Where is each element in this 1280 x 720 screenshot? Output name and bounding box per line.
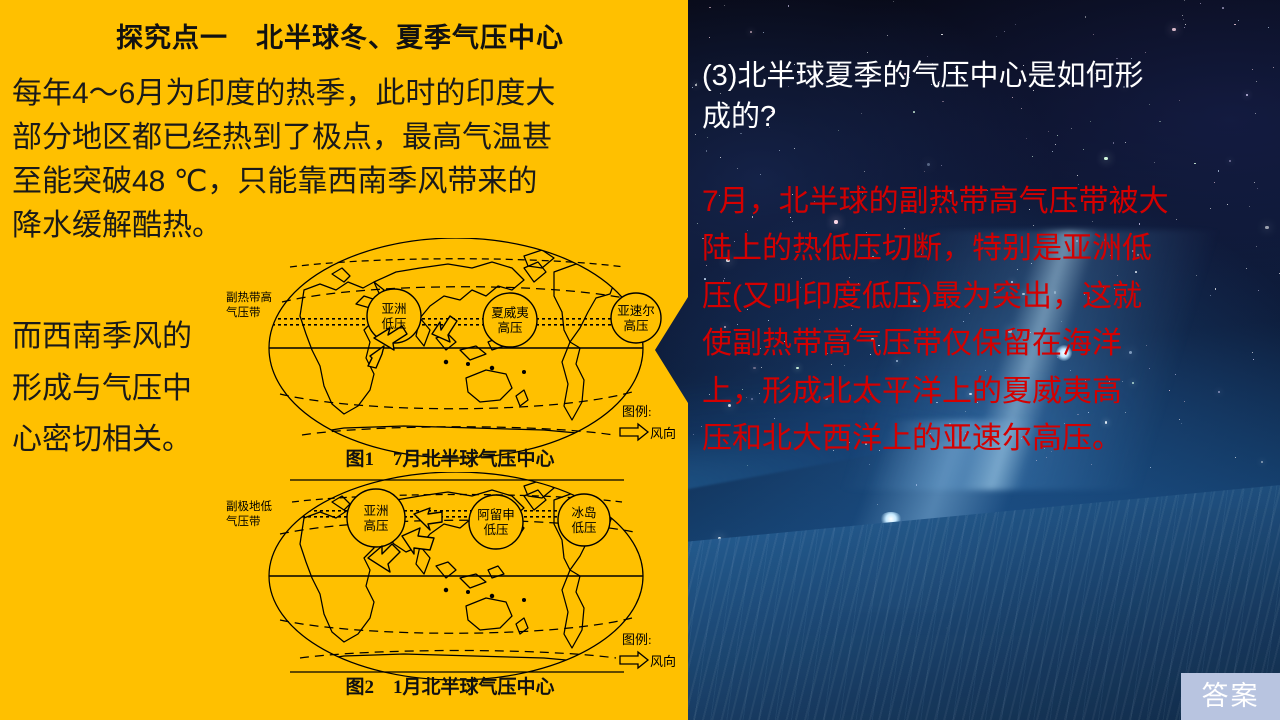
lead-paragraph-continued: 而西南季风的 形成与气压中 心密切相关。	[12, 311, 242, 466]
map-caption: 图1 7月北半球气压中心	[224, 444, 676, 471]
paragraph-line: 每年4～6月为印度的热季，此时的印度大	[12, 72, 672, 116]
answer-text: 7月，北半球的副热带高气压带被大 陆上的热低压切断，特别是亚洲低 压(又叫印度低…	[702, 178, 1268, 462]
paragraph-line: 心密切相关。	[12, 414, 242, 466]
pressure-center-label: 高压	[497, 320, 522, 335]
answer-line: 7月，北半球的副热带高气压带被大	[702, 178, 1268, 225]
wind-direction-arrow-icon	[620, 652, 648, 668]
pressure-center-label: 亚洲	[381, 302, 406, 316]
pressure-center-circle	[483, 293, 537, 347]
pressure-center-label: 夏威夷	[491, 305, 529, 320]
question-text: (3)北半球夏季的气压中心是如何形 成的?	[702, 56, 1268, 138]
answer-line: 压(又叫印度低压)最为突出，这就	[702, 273, 1268, 320]
band-label-line: 气压带	[226, 514, 261, 528]
pressure-center-circle	[611, 293, 661, 343]
map-july-svg: 亚洲 低压 夏威夷 高压 亚速尔 高压 副热带高 气压带 图例:	[224, 238, 676, 464]
pressure-center-label: 低压	[483, 523, 508, 537]
map-caption: 图2 1月北半球气压中心	[224, 672, 676, 699]
pressure-center-circle	[469, 495, 523, 549]
band-label-line: 气压带	[226, 305, 261, 319]
wind-direction-arrow-icon	[620, 424, 648, 440]
pressure-center-label: 亚速尔	[617, 303, 655, 318]
paragraph-line: 形成与气压中	[12, 363, 242, 415]
map-july-pressure-centers: 亚洲 低压 夏威夷 高压 亚速尔 高压 副热带高 气压带 图例:	[224, 238, 676, 464]
question-line: 成的?	[702, 97, 1268, 138]
pressure-center-label: 冰岛	[571, 505, 596, 520]
pressure-center-label: 亚洲	[363, 504, 388, 518]
legend-title: 图例:	[622, 632, 652, 647]
paragraph-line: 而西南季风的	[12, 311, 242, 363]
paragraph-line: 至能突破48 ℃，只能靠西南季风带来的	[12, 160, 672, 204]
answer-line: 上，形成北太平洋上的夏威夷高	[702, 368, 1268, 415]
map-january-pressure-centers: 亚洲 高压 阿留申 低压 冰岛 低压 副极地低 气压带 图例: 风向	[224, 472, 676, 698]
pressure-center-label: 高压	[363, 518, 388, 533]
pressure-center-label: 高压	[623, 318, 648, 333]
slide-root: (3)北半球夏季的气压中心是如何形 成的? 7月，北半球的副热带高气压带被大 陆…	[0, 0, 1280, 720]
pressure-center-label: 低压	[381, 317, 406, 331]
legend-item-label: 风向	[650, 654, 676, 669]
pressure-center-label: 阿留申	[477, 508, 515, 522]
pressure-center-label: 低压	[571, 521, 596, 535]
pressure-center-circle	[347, 489, 405, 547]
answer-button[interactable]: 答案	[1181, 673, 1280, 720]
pressure-center-circle	[558, 494, 610, 546]
lead-paragraph: 每年4～6月为印度的热季，此时的印度大 部分地区都已经热到了极点，最高气温甚 至…	[12, 72, 672, 248]
band-label-line: 副极地低	[226, 499, 272, 513]
answer-line: 使副热带高气压带仅保留在海洋	[702, 320, 1268, 367]
page-title: 探究点一 北半球冬、夏季气压中心	[0, 16, 680, 55]
band-label-line: 副热带高	[226, 290, 272, 304]
legend-title: 图例:	[622, 404, 652, 419]
paragraph-line: 部分地区都已经热到了极点，最高气温甚	[12, 116, 672, 160]
legend-item-label: 风向	[650, 426, 676, 441]
yellow-callout-panel: 探究点一 北半球冬、夏季气压中心 每年4～6月为印度的热季，此时的印度大 部分地…	[0, 0, 688, 720]
answer-line: 陆上的热低压切断，特别是亚洲低	[702, 225, 1268, 272]
map-january-svg: 亚洲 高压 阿留申 低压 冰岛 低压 副极地低 气压带 图例: 风向	[224, 472, 676, 698]
answer-line: 压和北大西洋上的亚速尔高压。	[702, 415, 1268, 462]
question-line: (3)北半球夏季的气压中心是如何形	[702, 56, 1268, 97]
